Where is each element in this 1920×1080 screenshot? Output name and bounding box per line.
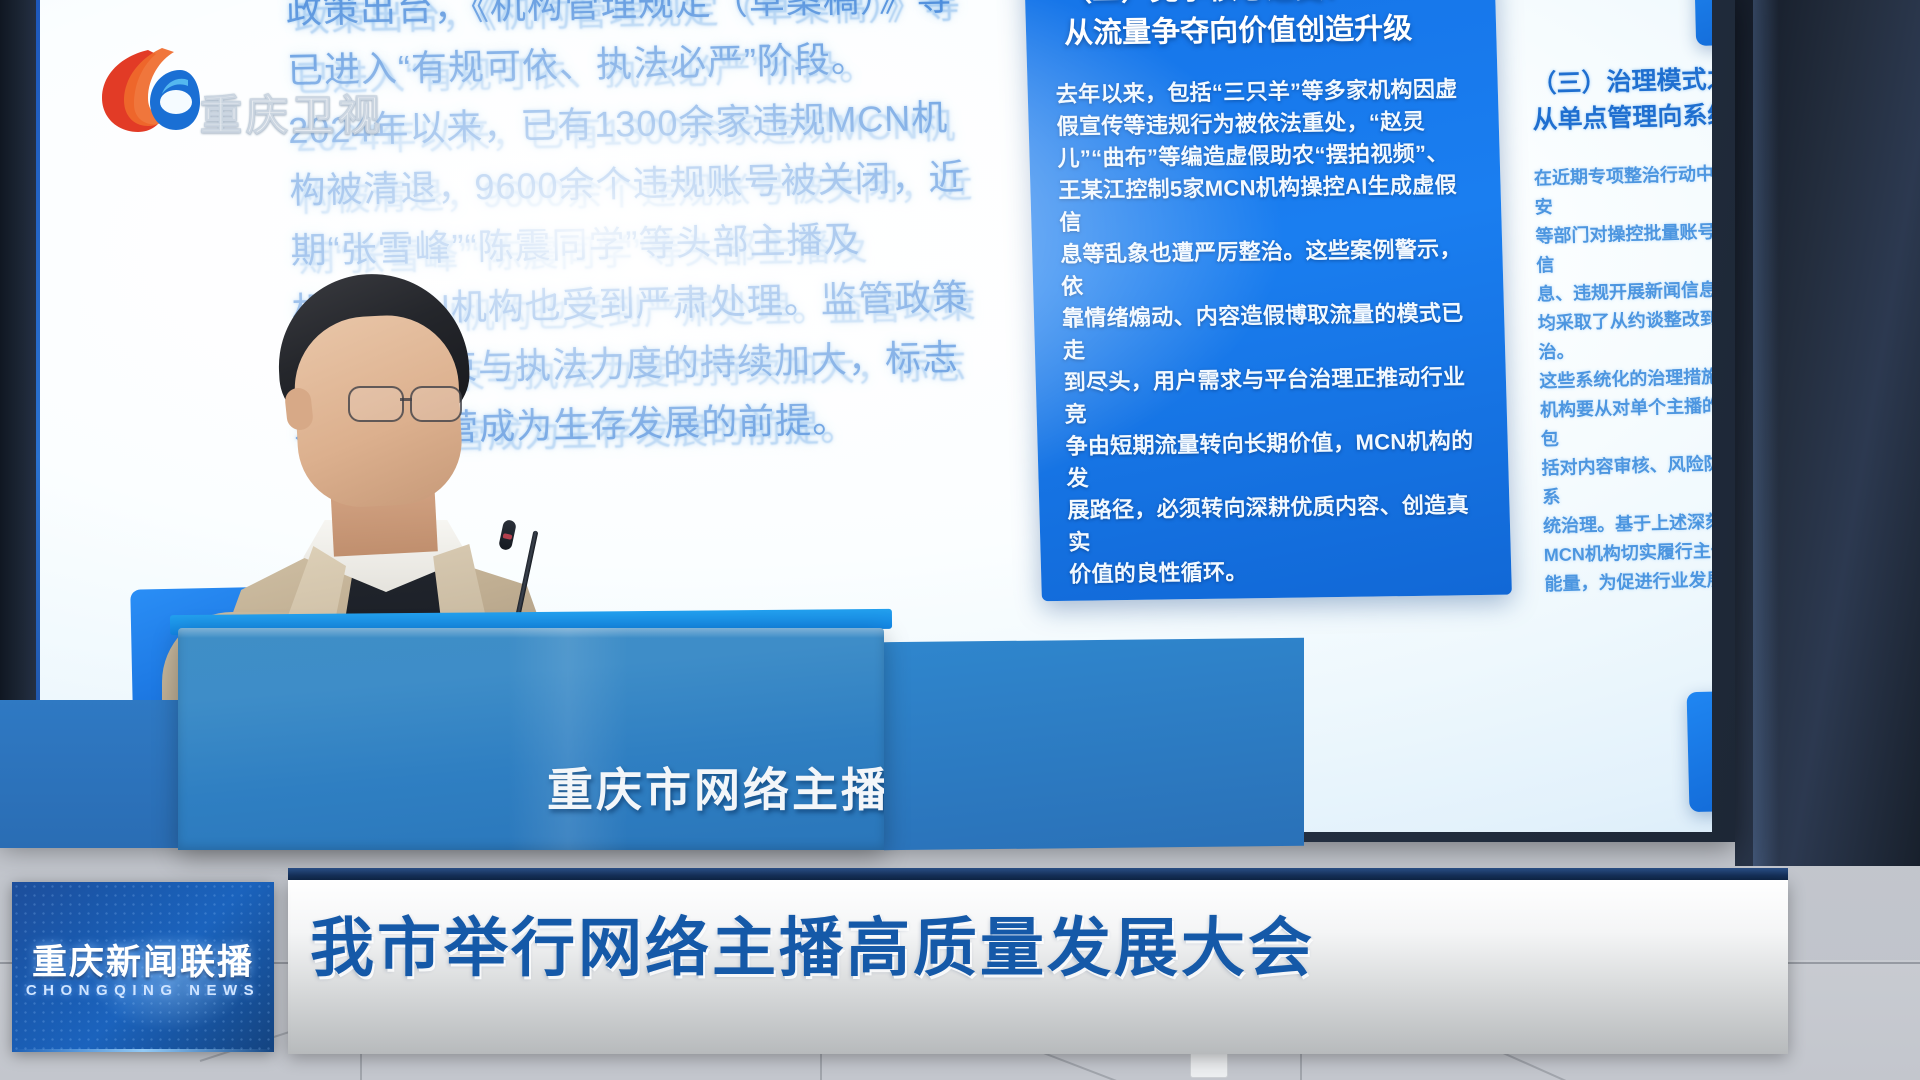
slide-right-column-title: （三）治理模式之变： 从单点管理向系统治理演进 <box>1531 58 1712 139</box>
podium: 重庆市网络主播 <box>178 628 884 850</box>
broadcast-frame: 政策出台，《机构管理规定（草案稿）》等 已进入“有规可依、执法必严”阶段。 20… <box>0 0 1920 1080</box>
slide-decor-chip-top-right <box>1694 0 1712 46</box>
wall-power-outlet <box>1190 1046 1228 1078</box>
wall-panel-lines <box>0 960 1920 1080</box>
room-right-wall <box>1735 0 1920 866</box>
podium-label: 重庆市网络主播 <box>547 754 884 820</box>
slide-blue-card-body: 去年以来，包括“三只羊”等多家机构因虚 假宣传等违规行为被依法重处，“赵灵 儿”… <box>1055 73 1489 591</box>
slide-right-column: （三）治理模式之变： 从单点管理向系统治理演进 在近期专项整治行动中，网信、文旅… <box>1531 58 1712 599</box>
slide-blue-card: （二）竞争核心之变： 从流量争夺向价值创造升级 去年以来，包括“三只羊”等多家机… <box>1024 0 1512 601</box>
eyeglasses-icon <box>348 386 470 420</box>
stage-panel-left <box>0 700 180 848</box>
slide-decor-chip-bottom-right <box>1687 688 1712 812</box>
chongqing-tv-swoosh-logo <box>96 46 202 136</box>
channel-bug-name: 重庆卫视 <box>200 82 384 143</box>
wall-seam <box>0 962 1920 964</box>
stage-panel-right <box>884 638 1304 850</box>
slide-right-column-body: 在近期专项整治行动中，网信、文旅、公安 等部门对操控批量账号、利用AI生成虚假信… <box>1534 156 1712 599</box>
channel-bug: 重庆卫视 <box>96 36 406 146</box>
slide-blue-card-title: （二）竞争核心之变： 从流量争夺向价值创造升级 <box>1062 0 1464 55</box>
